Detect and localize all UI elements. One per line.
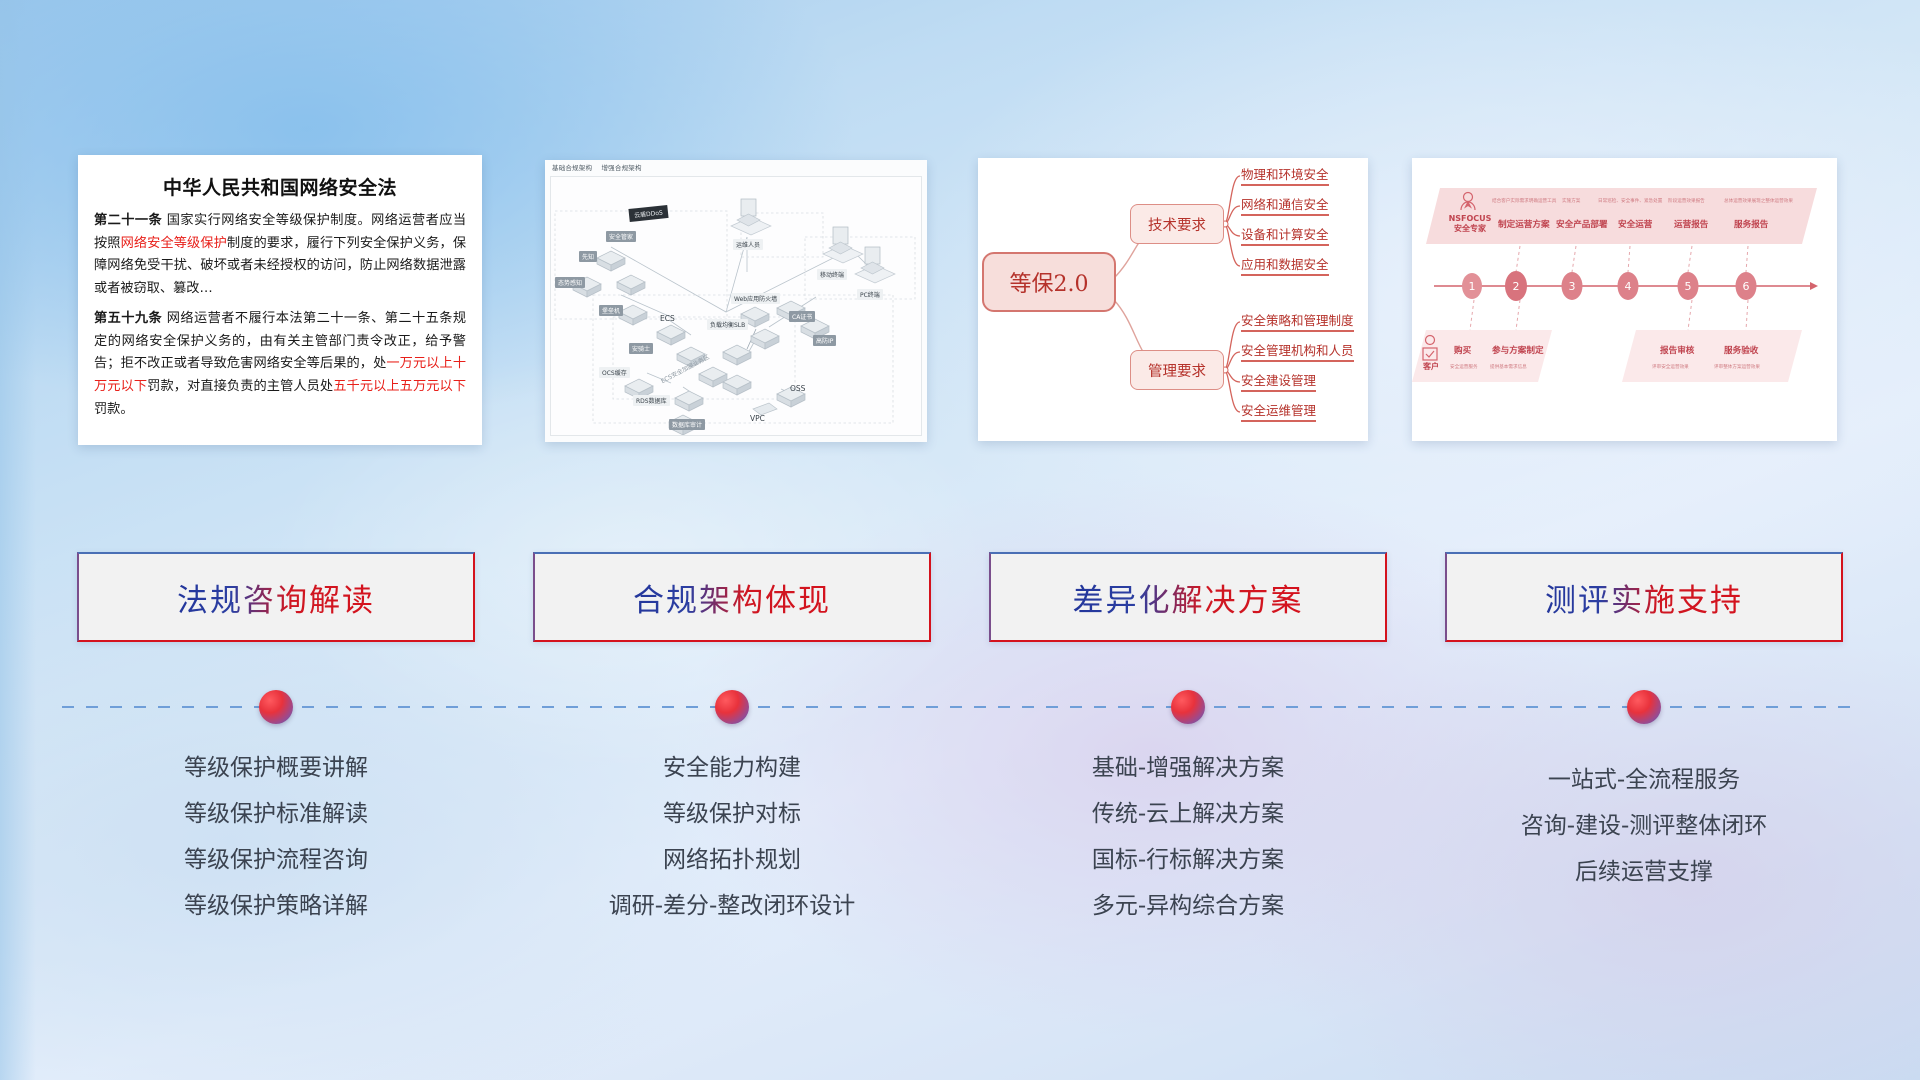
vendor-label: NSFOCUS 安全专家 [1442,214,1498,234]
law-article-body: 网络运营者不履行本法第二十一条、第二十五条规定的网络安全保护义务的，由有关主管部… [94,311,466,417]
column-list-2: 安全能力构建 等级保护对标 网络拓扑规划 调研-差分-整改闭环设计 [533,745,931,929]
tab-basic[interactable]: 基础合规架构 [552,164,592,172]
headline-text: 测评实施支持 [1545,575,1743,620]
node-label-situation-awareness: 态势感知 [555,277,585,288]
headline-text: 差异化解决方案 [1073,575,1304,620]
step-sub: 阶段运营效果报告 [1668,198,1705,204]
tab-enhanced[interactable]: 增强合规架构 [601,164,641,172]
law-paragraph-59: 第五十九条 网络运营者不履行本法第二十一条、第二十五条规定的网络安全保护义务的，… [94,308,466,422]
list-item: 等级保护策略详解 [77,883,475,929]
svg-text:3: 3 [1569,280,1576,293]
list-item: 调研-差分-整改闭环设计 [533,883,931,929]
law-title: 中华人民共和国网络安全法 [94,173,466,200]
customer-step-sub: 评审安全运营效果 [1652,364,1689,370]
vendor-role: 安全专家 [1454,224,1486,233]
list-item: 咨询-建设-测评整体闭环 [1445,803,1843,849]
customer-step-sub: 安全运营服务 [1450,364,1478,370]
node-label-ca-cert: CA证书 [789,311,815,322]
step-label: 运营报告 [1674,218,1708,230]
headline-box-4[interactable]: 测评实施支持 [1445,552,1843,642]
vendor-name: NSFOCUS [1449,214,1492,223]
node-label-mobile-terminal: 移动终端 [817,269,847,280]
node-label-vpc: VPC [747,413,768,424]
node-label-ecs: ECS [657,313,678,324]
law-text: 罚款，对直接负责的主管人员处 [147,379,333,394]
law-paragraph-21: 第二十一条 国家实行网络安全等级保护制度。网络运营者应当按照网络安全等级保护制度… [94,210,466,301]
customer-step-sub: 评审整体方案运营效果 [1714,364,1760,370]
node-label-waf: Web应用防火墙 [731,293,780,304]
mindmap-leaf: 网络和通信安全 [1241,194,1329,216]
customer-label: 客户 [1416,362,1446,372]
node-label-oss: OSS [787,383,808,394]
node-label-rds: RDS数据库 [633,395,670,406]
mindmap-leaf: 安全管理机构和人员 [1241,340,1354,362]
law-highlight: 网络安全等级保护 [121,236,227,251]
list-item: 后续运营支撑 [1445,849,1843,895]
node-label-xianzhi: 先知 [579,251,597,262]
step-label: 安全产品部署 [1556,218,1608,230]
list-item: 安全能力构建 [533,745,931,791]
node-label-ops-staff: 运维人员 [733,239,763,250]
customer-step-label: 购买 [1454,344,1471,356]
mindmap-branch-tech: 技术要求 [1130,204,1224,244]
mindmap-leaf: 安全运维管理 [1241,400,1316,422]
svg-text:2: 2 [1513,280,1520,293]
list-item: 等级保护对标 [533,791,931,837]
law-article-label: 第二十一条 [94,213,162,228]
headline-text: 法规咨询解读 [177,575,375,620]
timeline-dot-3 [1171,690,1205,724]
timeline-dot-1 [259,690,293,724]
headline-text: 合规架构体现 [633,575,831,620]
headline-box-2[interactable]: 合规架构体现 [533,552,931,642]
mindmap-leaf: 安全策略和管理制度 [1241,310,1354,332]
node-label-slb: 负载均衡SLB [707,319,748,330]
list-item: 多元-异构综合方案 [989,883,1387,929]
timeline-dashed-line [62,706,1858,708]
mindmap-leaf: 物理和环境安全 [1241,164,1329,186]
architecture-frame: 云盾DDoS 安全管家 先知 态势感知 堡垒机 运维人员 移动终端 PC终端 W… [550,176,922,436]
list-item: 等级保护概要讲解 [77,745,475,791]
node-label-anti-ddos-ip: 高防IP [813,335,836,346]
column-list-3: 基础-增强解决方案 传统-云上解决方案 国标-行标解决方案 多元-异构综合方案 [989,745,1387,929]
timeline-card: 12 34 56 NSFOCUS 安全专家 客户 结合客户实际需求明确运营工具 … [1412,158,1837,441]
timeline-dot-4 [1627,690,1661,724]
node-label-pc-terminal: PC终端 [857,289,883,300]
list-item: 等级保护流程咨询 [77,837,475,883]
law-highlight: 五千元以上五万元以下 [333,379,466,394]
mindmap-branch-mgmt: 管理要求 [1130,350,1224,390]
headline-box-1[interactable]: 法规咨询解读 [77,552,475,642]
svg-text:1: 1 [1469,280,1476,293]
mindmap-leaf: 应用和数据安全 [1241,254,1329,276]
svg-text:6: 6 [1743,280,1750,293]
step-sub: 日常巡检、安全事件、紧急处置 [1598,198,1662,204]
customer-step-sub: 提供基本需求信息 [1490,364,1527,370]
customer-step-label: 报告审核 [1660,344,1694,356]
architecture-tabs: 基础合规架构 增强合规架构 [552,162,649,172]
list-item: 网络拓扑规划 [533,837,931,883]
step-sub: 总体运营效果展现之整体运营效果 [1724,198,1793,204]
node-label-security-manager: 安全管家 [606,231,636,242]
step-sub: 实施方案 [1562,198,1580,204]
mindmap-card: 等保2.0 技术要求 管理要求 物理和环境安全 网络和通信安全 设备和计算安全 … [978,158,1368,441]
customer-step-label: 参与方案制定 [1492,344,1544,356]
column-list-1: 等级保护概要讲解 等级保护标准解读 等级保护流程咨询 等级保护策略详解 [77,745,475,929]
law-text: 罚款。 [94,402,134,417]
step-label: 服务报告 [1734,218,1768,230]
svg-text:5: 5 [1685,280,1692,293]
architecture-card: 基础合规架构 增强合规架构 [545,160,927,442]
list-item: 国标-行标解决方案 [989,837,1387,883]
step-label: 安全运营 [1618,218,1652,230]
list-item: 等级保护标准解读 [77,791,475,837]
law-article-label: 第五十九条 [94,311,162,326]
step-label: 制定运营方案 [1498,218,1550,230]
customer-step-label: 服务验收 [1724,344,1758,356]
timeline-dot-2 [715,690,749,724]
mindmap-root: 等保2.0 [982,252,1116,312]
list-item: 一站式-全流程服务 [1445,757,1843,803]
mindmap-leaf: 安全建设管理 [1241,370,1316,392]
list-item: 基础-增强解决方案 [989,745,1387,791]
mindmap-leaf: 设备和计算安全 [1241,224,1329,246]
headline-box-3[interactable]: 差异化解决方案 [989,552,1387,642]
node-label-ocs-cache: OCS缓存 [599,367,630,378]
svg-text:4: 4 [1625,280,1632,293]
column-list-4: 一站式-全流程服务 咨询-建设-测评整体闭环 后续运营支撑 [1445,757,1843,895]
node-label-anqishi: 安骑士 [629,343,653,354]
node-label-db-audit: 数据库审计 [669,419,705,430]
law-card: 中华人民共和国网络安全法 第二十一条 国家实行网络安全等级保护制度。网络运营者应… [78,155,482,445]
step-sub: 结合客户实际需求明确运营工具 [1492,198,1556,204]
node-label-bastion-host: 堡垒机 [599,305,623,316]
list-item: 传统-云上解决方案 [989,791,1387,837]
